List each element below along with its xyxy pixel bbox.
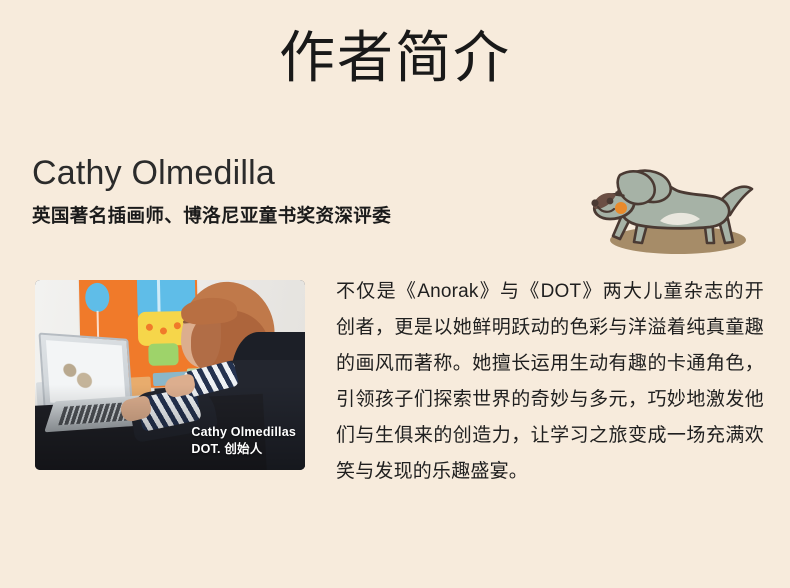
author-photo: Cathy Olmedillas DOT. 创始人 xyxy=(35,280,305,470)
photo-caption: Cathy Olmedillas DOT. 创始人 xyxy=(191,424,296,458)
dog-freckle-2 xyxy=(621,194,624,197)
dog-freckle-1 xyxy=(615,191,618,194)
photo-caption-line-2: DOT. 创始人 xyxy=(191,441,296,458)
dog-illustration-svg xyxy=(586,163,766,261)
author-intro-page: 作者简介 Cathy Olmedilla 英国著名插画师、博洛尼亚童书奖资深评委 xyxy=(0,0,790,588)
dog-nose xyxy=(591,199,598,206)
author-bio-text: 不仅是《Anorak》与《DOT》两大儿童杂志的开创者，更是以她鲜明跃动的色彩与… xyxy=(336,274,764,490)
photo-caption-line-1: Cathy Olmedillas xyxy=(191,424,296,441)
dog-cheek xyxy=(615,202,627,214)
author-credential: 英国著名插画师、博洛尼亚童书奖资深评委 xyxy=(32,203,391,229)
page-title: 作者简介 xyxy=(0,26,790,90)
dog-eye xyxy=(607,198,614,205)
dog-illustration xyxy=(586,163,766,261)
author-name: Cathy Olmedilla xyxy=(32,152,275,194)
